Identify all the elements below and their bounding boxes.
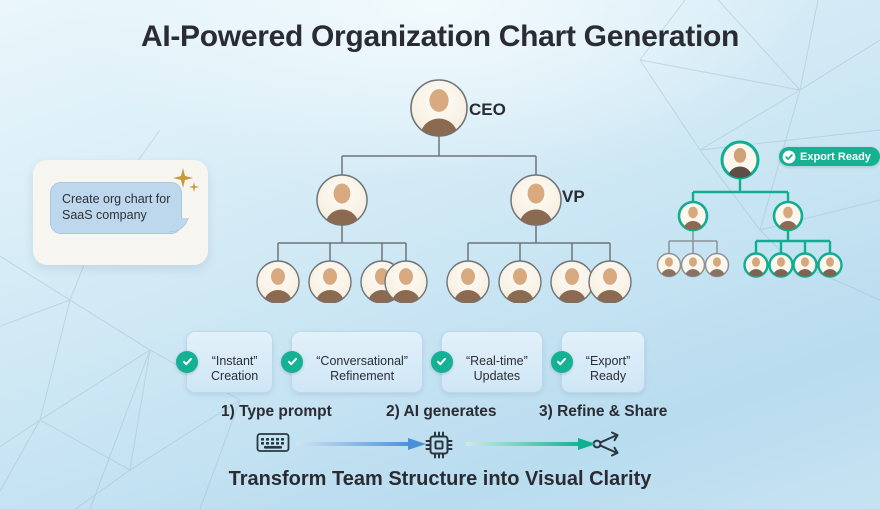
step-label-refine-share: 3) Refine & Share: [539, 403, 667, 421]
bubble-tail: [169, 218, 189, 232]
check-icon: [551, 351, 573, 373]
step-arrow-2: [466, 436, 598, 452]
feature-pill-label: “Real-time”Updates: [466, 338, 528, 385]
org-leaf: [257, 261, 299, 303]
org-leaf: [551, 261, 593, 303]
org-leaf: [589, 261, 631, 303]
org-label-ceo: CEO: [469, 100, 506, 120]
step-label-ai-generates: 2) AI generates: [386, 403, 497, 421]
check-icon: [431, 351, 453, 373]
mini-leaf-active: [770, 254, 793, 284]
page-title: AI-Powered Organization Chart Generation: [0, 20, 880, 54]
infographic-canvas: AI-Powered Organization Chart Generation…: [0, 0, 880, 509]
check-icon: [281, 351, 303, 373]
mini-leaf-inactive: [682, 254, 705, 284]
feature-pill-label: “Instant”Creation: [211, 338, 258, 385]
feature-pill[interactable]: “Real-time”Updates: [441, 331, 543, 393]
feature-pill-label: “Conversational”Refinement: [316, 338, 408, 385]
keyboard-icon: [256, 430, 290, 456]
check-icon: [176, 351, 198, 373]
org-leaf: [499, 261, 541, 303]
feature-pill[interactable]: “Conversational”Refinement: [291, 331, 423, 393]
feature-pill[interactable]: “Instant”Creation: [186, 331, 273, 393]
feature-pill-list: “Instant”Creation “Conversational”Refine…: [186, 331, 645, 393]
mini-leaf-active: [745, 254, 768, 284]
cpu-chip-icon: [424, 430, 454, 460]
mini-leaf-active: [819, 254, 842, 284]
step-label-type-prompt: 1) Type prompt: [221, 403, 332, 421]
org-leaf: [385, 261, 427, 303]
prompt-text-line1: Create org chart for: [62, 192, 171, 208]
prompt-card: Create org chart for SaaS company: [33, 160, 208, 265]
feature-pill-label: “Export”Ready: [586, 338, 630, 385]
org-leaf: [447, 261, 489, 303]
status-badge-label: Export Ready: [800, 151, 871, 163]
mini-leaf-inactive: [706, 254, 729, 284]
org-leaf: [309, 261, 351, 303]
feature-pill[interactable]: “Export”Ready: [561, 331, 645, 393]
step-arrow-1: [296, 436, 428, 452]
org-label-vp: VP: [562, 187, 585, 207]
prompt-text-line2: SaaS company: [62, 208, 171, 224]
check-circle-icon: [782, 150, 796, 164]
mini-leaf-inactive: [658, 254, 681, 284]
prompt-bubble: Create org chart for SaaS company: [50, 182, 182, 234]
footer-tagline: Transform Team Structure into Visual Cla…: [0, 468, 880, 491]
status-badge-export-ready[interactable]: Export Ready: [779, 147, 880, 166]
mini-leaf-active: [794, 254, 817, 284]
